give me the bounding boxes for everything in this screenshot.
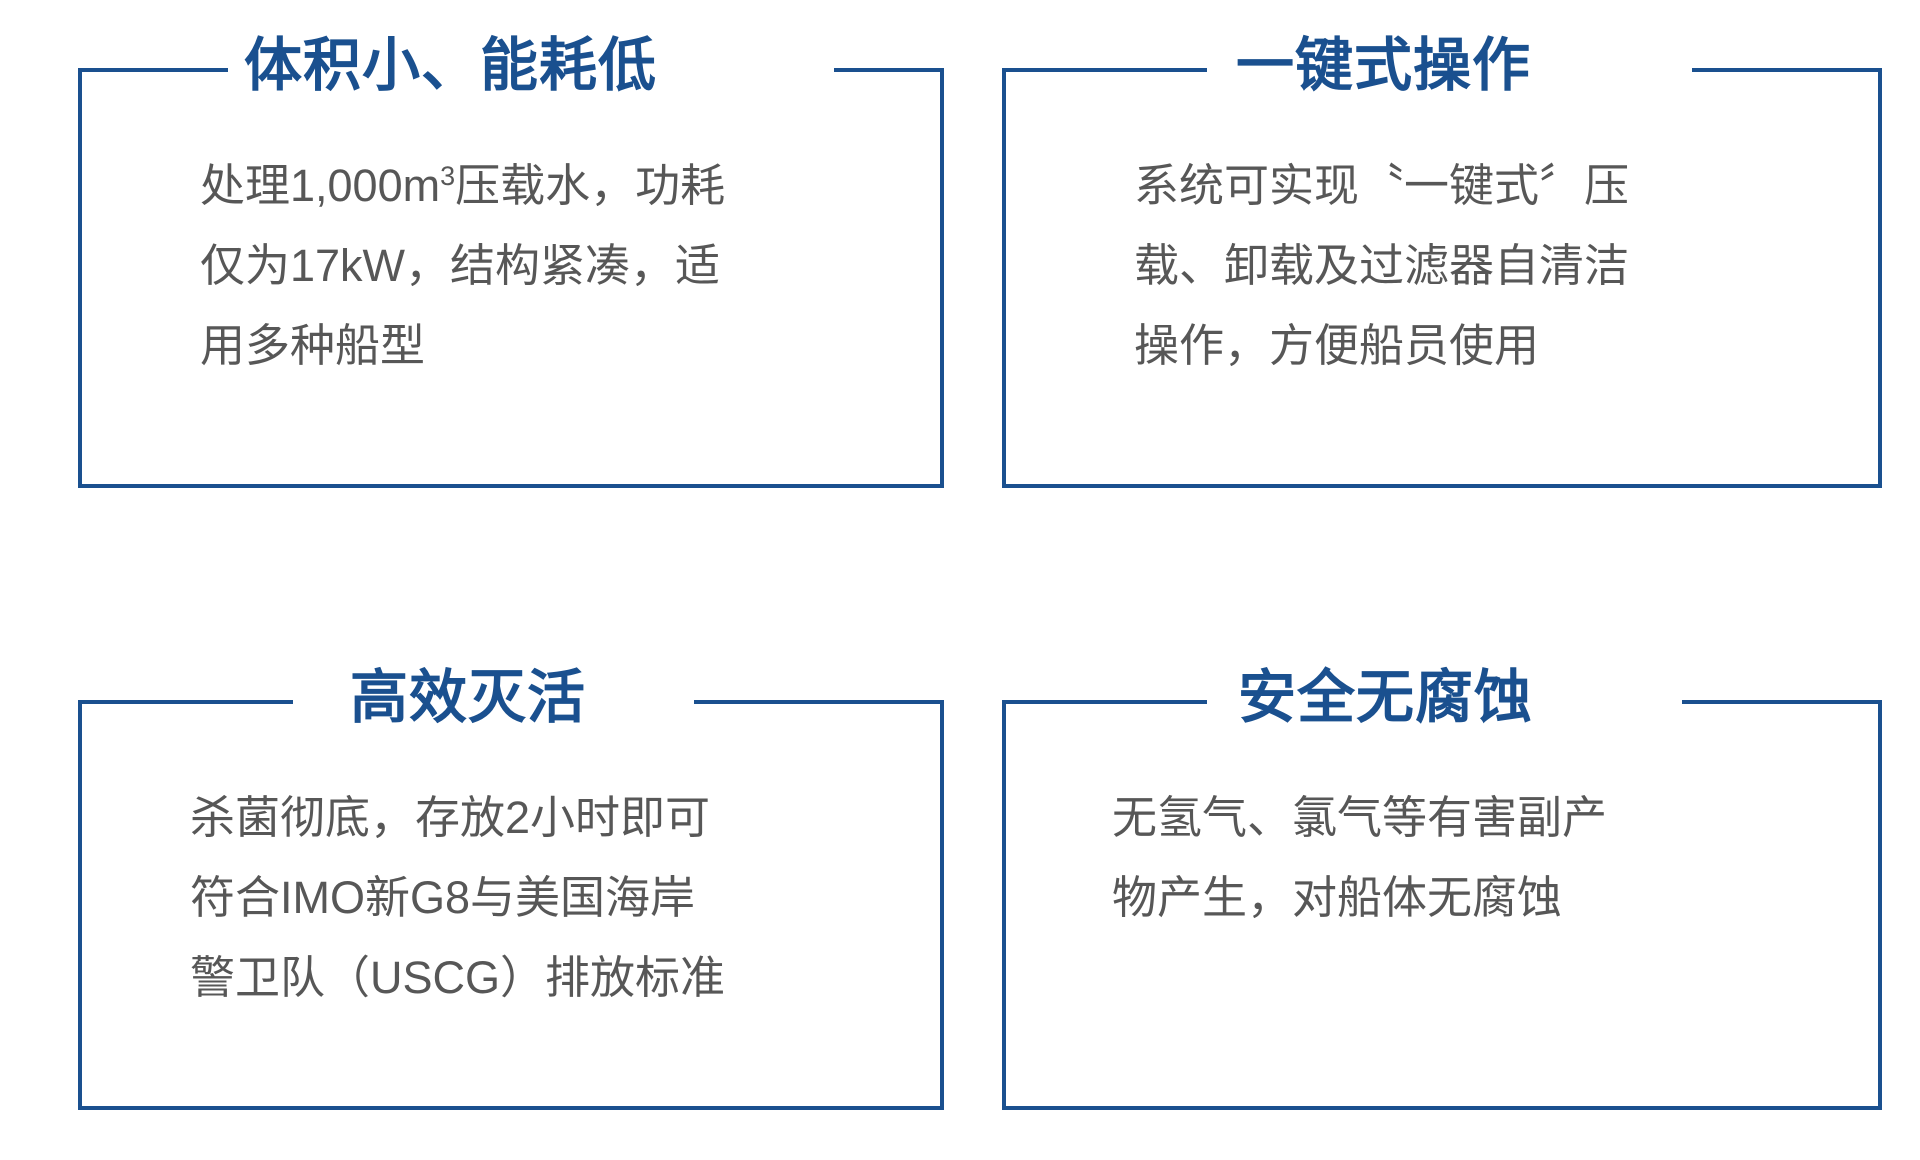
card-body-line: 载、卸载及过滤器自清洁 — [1134, 226, 1794, 306]
card-title-noncorrosive: 安全无腐蚀 — [1222, 660, 1549, 736]
card-top-border-right-segment — [694, 700, 944, 704]
card-body-compact: 处理1,000m3压载水，功耗 仅为17kW，结构紧凑，适 用多种船型 — [200, 146, 900, 386]
card-title-onekey: 一键式操作 — [1220, 28, 1547, 104]
card-top-border-right-segment — [1692, 68, 1882, 72]
card-top-border-right-segment — [834, 68, 944, 72]
feature-card-noncorrosive: 安全无腐蚀 无氢气、氯气等有害副产 物产生，对船体无腐蚀 — [1002, 700, 1882, 1110]
card-body-line: 符合IMO新G8与美国海岸 — [190, 858, 890, 938]
card-body-line: 系统可实现〝一键式〞压 — [1134, 146, 1794, 226]
card-top-border-right-segment — [1682, 700, 1882, 704]
card-top-border-left-segment — [1002, 68, 1207, 72]
card-body-line: 处理1,000m3压载水，功耗 — [200, 146, 900, 226]
card-title-compact: 体积小、能耗低 — [228, 28, 673, 104]
card-body-line: 警卫队（USCG）排放标准 — [190, 938, 890, 1018]
card-body-line: 用多种船型 — [200, 306, 900, 386]
feature-card-sterilize: 高效灭活 杀菌彻底，存放2小时即可 符合IMO新G8与美国海岸 警卫队（USCG… — [78, 700, 944, 1110]
card-body-line: 无氢气、氯气等有害副产 — [1112, 778, 1812, 858]
card-body-sterilize: 杀菌彻底，存放2小时即可 符合IMO新G8与美国海岸 警卫队（USCG）排放标准 — [190, 778, 890, 1018]
card-body-line: 物产生，对船体无腐蚀 — [1112, 858, 1812, 938]
card-body-line: 仅为17kW，结构紧凑，适 — [200, 226, 900, 306]
card-body-onekey: 系统可实现〝一键式〞压 载、卸载及过滤器自清洁 操作，方便船员使用 — [1134, 146, 1794, 386]
card-top-border-left-segment — [78, 700, 293, 704]
card-top-border-left-segment — [78, 68, 233, 72]
card-title-sterilize: 高效灭活 — [334, 660, 602, 736]
feature-cards-board: 体积小、能耗低 处理1,000m3压载水，功耗 仅为17kW，结构紧凑，适 用多… — [0, 0, 1920, 1160]
card-body-noncorrosive: 无氢气、氯气等有害副产 物产生，对船体无腐蚀 — [1112, 778, 1812, 938]
feature-card-compact: 体积小、能耗低 处理1,000m3压载水，功耗 仅为17kW，结构紧凑，适 用多… — [78, 68, 944, 488]
card-body-line: 杀菌彻底，存放2小时即可 — [190, 778, 890, 858]
card-top-border-left-segment — [1002, 700, 1207, 704]
feature-card-onekey: 一键式操作 系统可实现〝一键式〞压 载、卸载及过滤器自清洁 操作，方便船员使用 — [1002, 68, 1882, 488]
card-body-line: 操作，方便船员使用 — [1134, 306, 1794, 386]
superscript-three: 3 — [440, 161, 455, 191]
